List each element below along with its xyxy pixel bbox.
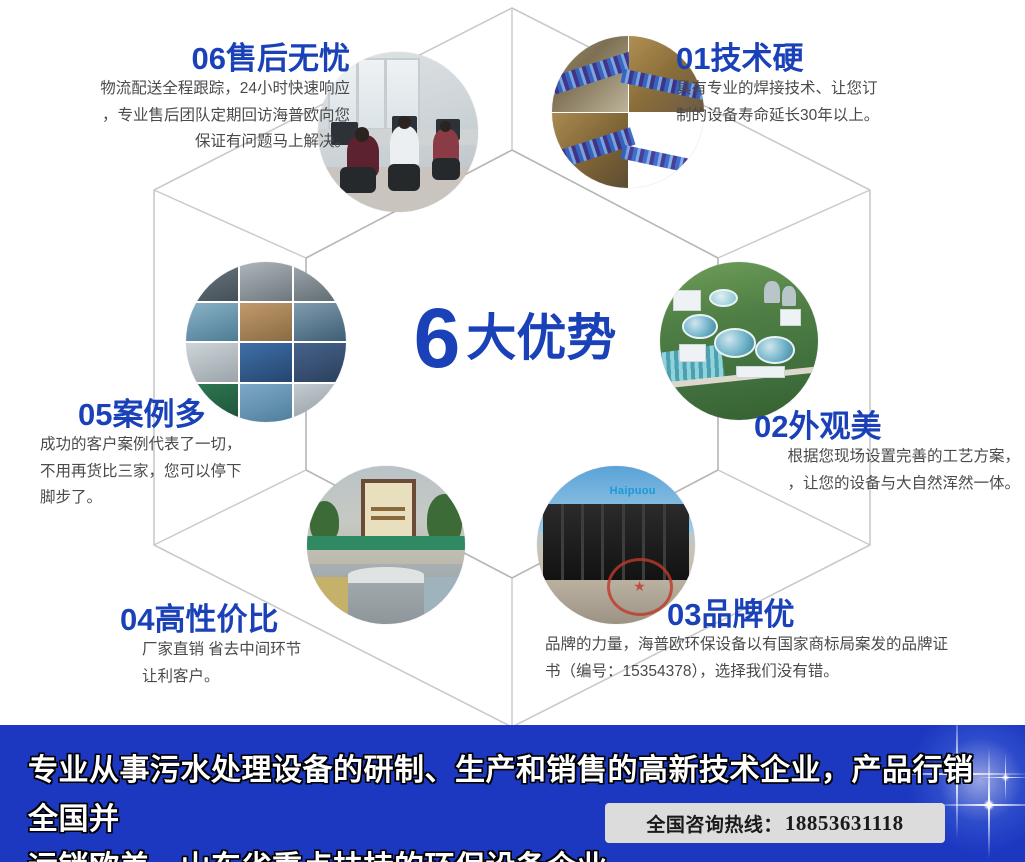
advantage-06-body: 物流配送全程跟踪，24小时快速响应 ，专业售后团队定期回访海普欧向您 保证有问题…	[10, 76, 350, 156]
advantage-03-body: 品牌的力量，海普欧环保设备以有国家商标局案发的品牌证 书（编号：15354378…	[545, 632, 1020, 685]
advantage-06-block: 06售后无忧 物流配送全程跟踪，24小时快速响应 ，专业售后团队定期回访海普欧向…	[10, 42, 350, 156]
advantage-01-block: 01技术硬 具有专业的焊接技术、让您订 制的设备寿命延长30年以上。	[676, 42, 1006, 129]
advantage-04-heading: 04高性价比	[120, 603, 420, 637]
spoke-top-right	[718, 190, 870, 258]
banner-line-2: 远销欧美，山东省重点扶持的环保设备企业。	[28, 844, 988, 862]
advantage-01-heading: 01技术硬	[676, 42, 1006, 76]
advantage-03-line-2: 书（编号：15354378），选择我们没有错。	[545, 659, 1020, 686]
advantage-04-line-2: 让利客户。	[142, 664, 420, 691]
advantage-06-heading: 06售后无忧	[10, 42, 350, 76]
advantage-04-body: 厂家直销 省去中间环节 让利客户。	[142, 637, 420, 690]
advantage-03-heading: 03品牌优	[667, 598, 1020, 632]
advantage-01-line-2: 制的设备寿命延长30年以上。	[676, 103, 1006, 130]
advantage-05-line-1: 成功的客户案例代表了一切，	[40, 432, 340, 459]
advantage-06-line-1: 物流配送全程跟踪，24小时快速响应	[10, 76, 350, 103]
aerial-treatment-plant-photo	[660, 262, 818, 420]
advantage-05-heading: 05案例多	[78, 398, 340, 432]
advantage-05-line-3: 脚步了。	[40, 485, 340, 512]
advantage-03-line-1: 品牌的力量，海普欧环保设备以有国家商标局案发的品牌证	[545, 632, 1020, 659]
advantage-06-line-3: 保证有问题马上解决。	[10, 129, 350, 156]
advantage-02-block: 02外观美 根据您现场设置完善的工艺方案， ，让您的设备与大自然浑然一体。	[700, 410, 1020, 497]
advantage-05-block: 05案例多 成功的客户案例代表了一切， 不用再货比三家，您可以停下 脚步了。	[40, 398, 340, 512]
advantage-05-line-2: 不用再货比三家，您可以停下	[40, 459, 340, 486]
hotline-number: 18853631118	[785, 811, 904, 836]
advantage-01-line-1: 具有专业的焊接技术、让您订	[676, 76, 1006, 103]
advantage-04-block: 04高性价比 厂家直销 省去中间环节 让利客户。	[120, 603, 420, 690]
advantage-05-body: 成功的客户案例代表了一切， 不用再货比三家，您可以停下 脚步了。	[40, 432, 340, 512]
advantage-04-line-1: 厂家直销 省去中间环节	[142, 637, 420, 664]
haipuou-logo: Haipuou	[610, 485, 656, 497]
advantage-01-body: 具有专业的焊接技术、让您订 制的设备寿命延长30年以上。	[676, 76, 1006, 129]
hotline-box[interactable]: 全国咨询热线： 18853631118	[605, 803, 945, 843]
advantage-02-line-2: ，让您的设备与大自然浑然一体。	[700, 471, 1020, 498]
advantage-02-line-1: 根据您现场设置完善的工艺方案，	[700, 444, 1020, 471]
advantage-06-line-2: ，专业售后团队定期回访海普欧向您	[10, 103, 350, 130]
center-number: 6	[414, 296, 459, 380]
advantage-02-body: 根据您现场设置完善的工艺方案， ，让您的设备与大自然浑然一体。	[700, 444, 1020, 497]
advantage-02-heading: 02外观美	[754, 410, 1020, 444]
hotline-label: 全国咨询热线：	[646, 810, 783, 837]
spoke-top-left	[154, 190, 306, 258]
center-label: 大优势	[466, 313, 616, 363]
center-title: 6 大优势	[385, 288, 645, 388]
advantage-03-block: 03品牌优 品牌的力量，海普欧环保设备以有国家商标局案发的品牌证 书（编号：15…	[545, 598, 1020, 685]
infographic-stage: 6 大优势	[0, 0, 1025, 862]
